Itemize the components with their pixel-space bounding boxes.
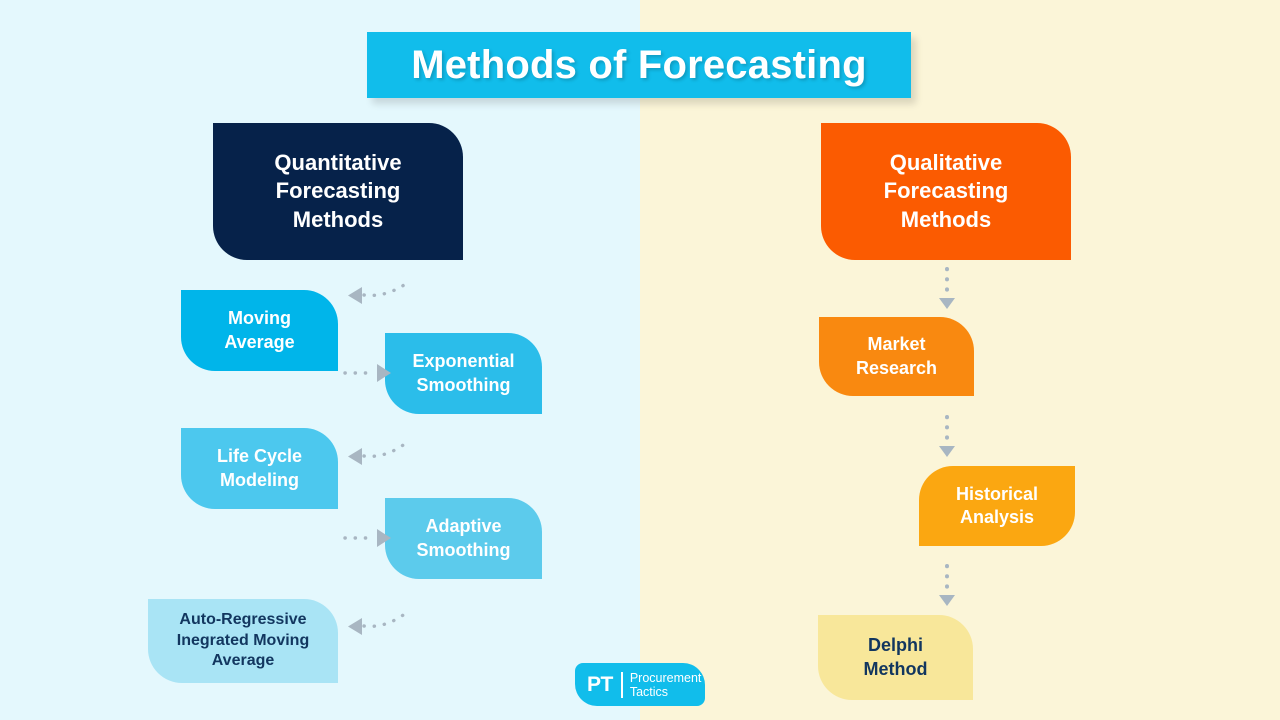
qualitative-header-box: Qualitative Forecasting Methods: [821, 123, 1071, 260]
quantitative-header-box: Quantitative Forecasting Methods: [213, 123, 463, 260]
page-title-banner: Methods of Forecasting: [367, 32, 911, 98]
page-title: Methods of Forecasting: [411, 43, 867, 88]
logo-wordmark: Procurement Tactics: [630, 671, 702, 699]
logo-divider: [621, 672, 623, 698]
node-arima-label: Auto-Regressive Inegrated Moving Average: [177, 610, 309, 671]
node-arima: Auto-Regressive Inegrated Moving Average: [148, 599, 338, 683]
node-historical-analysis-label: Historical Analysis: [956, 483, 1038, 529]
node-exponential-smoothing-label: Exponential Smoothing: [412, 350, 514, 396]
procurement-tactics-logo: PT Procurement Tactics: [575, 663, 705, 706]
logo-mark: PT: [587, 674, 613, 695]
logo-line-2: Tactics: [630, 685, 702, 699]
node-life-cycle-modeling: Life Cycle Modeling: [181, 428, 338, 509]
node-exponential-smoothing: Exponential Smoothing: [385, 333, 542, 414]
node-moving-average-label: Moving Average: [224, 307, 294, 353]
node-market-research-label: Market Research: [856, 333, 937, 379]
node-moving-average: Moving Average: [181, 290, 338, 371]
node-delphi-method-label: Delphi Method: [864, 634, 928, 680]
node-adaptive-smoothing-label: Adaptive Smoothing: [417, 515, 511, 561]
node-delphi-method: Delphi Method: [818, 615, 973, 700]
qualitative-header-label: Qualitative Forecasting Methods: [884, 149, 1009, 233]
quantitative-header-label: Quantitative Forecasting Methods: [274, 149, 401, 233]
node-life-cycle-modeling-label: Life Cycle Modeling: [217, 445, 302, 491]
logo-line-1: Procurement: [630, 671, 702, 685]
infographic-canvas: Methods of Forecasting Quantitative Fore…: [0, 0, 1280, 720]
node-historical-analysis: Historical Analysis: [919, 466, 1075, 546]
node-adaptive-smoothing: Adaptive Smoothing: [385, 498, 542, 579]
node-market-research: Market Research: [819, 317, 974, 396]
